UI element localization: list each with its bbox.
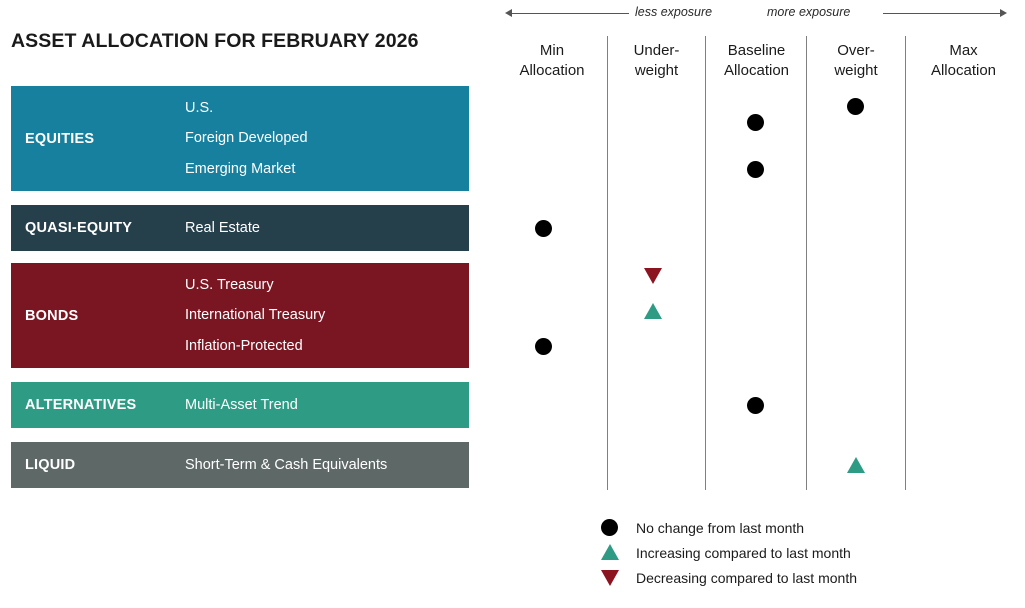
category-assets: Short-Term & Cash Equivalents — [185, 458, 469, 473]
column-header-line1: Min — [498, 41, 606, 61]
asset-category-row-bonds: BONDS U.S. Treasury International Treasu… — [11, 263, 469, 368]
more-exposure-line — [883, 13, 1000, 14]
marker-us-equities-overweight — [847, 98, 864, 115]
asset-label: Foreign Developed — [185, 131, 469, 146]
asset-label: Real Estate — [185, 221, 469, 236]
category-label: LIQUID — [11, 457, 185, 473]
legend-label: Increasing compared to last month — [636, 545, 851, 561]
category-label: QUASI-EQUITY — [11, 220, 185, 236]
legend-item-decreasing: Decreasing compared to last month — [598, 565, 857, 590]
category-assets: U.S. Treasury International Treasury Inf… — [185, 278, 469, 354]
marker-real-estate-min-allocation — [535, 220, 552, 237]
category-label: BONDS — [11, 308, 185, 324]
asset-category-row-quasi-equity: QUASI-EQUITY Real Estate — [11, 205, 469, 251]
asset-label: Emerging Market — [185, 162, 469, 177]
column-header-line2: weight — [608, 61, 705, 81]
asset-category-row-alternatives: ALTERNATIVES Multi-Asset Trend — [11, 382, 469, 428]
more-exposure-arrow-icon — [1000, 9, 1007, 17]
legend-dot-icon — [598, 515, 636, 540]
marker-international-treasury-underweight-increasing — [644, 303, 662, 319]
column-divider-1 — [607, 36, 608, 490]
column-header-line2: weight — [807, 61, 905, 81]
asset-label: Multi-Asset Trend — [185, 398, 469, 413]
column-header-line1: Over- — [807, 41, 905, 61]
legend-label: Decreasing compared to last month — [636, 570, 857, 586]
column-header-baseline-allocation: Baseline Allocation — [707, 41, 806, 81]
more-exposure-label: more exposure — [767, 5, 850, 19]
column-header-line2: Allocation — [906, 61, 1021, 81]
column-divider-3 — [806, 36, 807, 490]
chart-legend: No change from last month Increasing com… — [598, 515, 857, 590]
marker-inflation-protected-min-allocation — [535, 338, 552, 355]
marker-foreign-developed-baseline — [747, 114, 764, 131]
asset-label: Short-Term & Cash Equivalents — [185, 458, 469, 473]
asset-label: U.S. Treasury — [185, 278, 469, 293]
column-divider-2 — [705, 36, 706, 490]
column-header-line1: Max — [906, 41, 1021, 61]
legend-up-triangle-icon — [598, 540, 636, 565]
legend-label: No change from last month — [636, 520, 804, 536]
category-assets: Real Estate — [185, 221, 469, 236]
less-exposure-line — [512, 13, 629, 14]
marker-short-term-cash-overweight-increasing — [847, 457, 865, 473]
column-header-line2: Allocation — [498, 61, 606, 81]
asset-label: Inflation-Protected — [185, 339, 469, 354]
exposure-chart-panel: less exposure more exposure Min Allocati… — [492, 0, 1025, 608]
less-exposure-arrow-icon — [505, 9, 512, 17]
page-title: ASSET ALLOCATION FOR FEBRUARY 2026 — [11, 30, 419, 53]
less-exposure-label: less exposure — [635, 5, 712, 19]
category-assets: Multi-Asset Trend — [185, 398, 469, 413]
column-divider-4 — [905, 36, 906, 490]
column-header-underweight: Under- weight — [608, 41, 705, 81]
allocation-table-panel: ASSET ALLOCATION FOR FEBRUARY 2026 EQUIT… — [0, 0, 492, 608]
category-assets: U.S. Foreign Developed Emerging Market — [185, 101, 469, 177]
marker-multi-asset-trend-baseline — [747, 397, 764, 414]
asset-label: U.S. — [185, 101, 469, 116]
column-header-min-allocation: Min Allocation — [498, 41, 606, 81]
legend-down-triangle-icon — [598, 565, 636, 590]
column-header-line2: Allocation — [707, 61, 806, 81]
column-header-line1: Under- — [608, 41, 705, 61]
column-header-overweight: Over- weight — [807, 41, 905, 81]
category-label: EQUITIES — [11, 131, 185, 147]
column-header-max-allocation: Max Allocation — [906, 41, 1021, 81]
legend-item-increasing: Increasing compared to last month — [598, 540, 857, 565]
asset-category-row-equities: EQUITIES U.S. Foreign Developed Emerging… — [11, 86, 469, 191]
marker-us-treasury-underweight-decreasing — [644, 268, 662, 284]
column-header-line1: Baseline — [707, 41, 806, 61]
asset-label: International Treasury — [185, 308, 469, 323]
legend-item-no-change: No change from last month — [598, 515, 857, 540]
asset-category-row-liquid: LIQUID Short-Term & Cash Equivalents — [11, 442, 469, 488]
marker-emerging-market-baseline — [747, 161, 764, 178]
category-label: ALTERNATIVES — [11, 397, 185, 413]
